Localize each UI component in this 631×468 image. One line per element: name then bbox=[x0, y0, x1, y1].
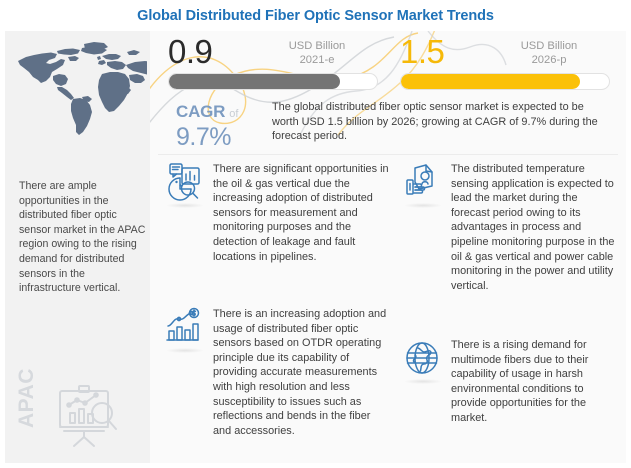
progress-bar-fill bbox=[401, 74, 580, 89]
stat-value-row: 0.9 USD Billion 2021-e bbox=[168, 37, 390, 75]
cagr-label: CAGR bbox=[176, 102, 225, 121]
stat-unit: USD Billion 2026-p bbox=[484, 39, 614, 67]
cagr-of-label: of bbox=[229, 108, 238, 120]
presentation-chart-magnifier-icon bbox=[52, 383, 124, 449]
icon-shadow bbox=[404, 203, 442, 208]
content-panel: 0.9 USD Billion 2021-e 1.5 USD Billion 2… bbox=[150, 31, 626, 463]
infographic-root: Global Distributed Fiber Optic Sensor Ma… bbox=[0, 0, 631, 468]
section-divider bbox=[158, 154, 618, 155]
insight-card-oil-gas: There are significant opportunities in t… bbox=[164, 162, 392, 264]
insight-card-distributed-temperature-sensing: The distributed temperature sensing appl… bbox=[402, 162, 620, 293]
insight-card-text: There is a rising demand for multimode f… bbox=[451, 338, 617, 426]
bar-chart-growth-icon bbox=[164, 307, 206, 349]
stat-estimate-2021: 0.9 USD Billion 2021-e bbox=[168, 37, 390, 99]
insight-card-otdr: There is an increasing adoption and usag… bbox=[164, 307, 392, 438]
world-map-icon bbox=[9, 37, 147, 143]
globe-icon bbox=[402, 338, 444, 380]
cagr-percent: 9.7% bbox=[176, 124, 270, 150]
progress-bar-track bbox=[168, 73, 378, 90]
stat-unit-line2: 2026-p bbox=[484, 53, 614, 67]
stat-unit-line2: 2021-e bbox=[252, 53, 382, 67]
hand-holding-documents-icon bbox=[402, 162, 444, 204]
insight-card-text: There are significant opportunities in t… bbox=[213, 162, 389, 264]
stat-unit: USD Billion 2021-e bbox=[252, 39, 382, 67]
cagr-description: The global distributed fiber optic senso… bbox=[272, 100, 612, 144]
insight-card-text: The distributed temperature sensing appl… bbox=[451, 162, 617, 293]
stat-projection-2026: 1.5 USD Billion 2026-p bbox=[400, 37, 622, 99]
stat-unit-line1: USD Billion bbox=[521, 40, 578, 52]
stat-unit-line1: USD Billion bbox=[289, 40, 346, 52]
sidebar-panel: There are ample opportunities in the dis… bbox=[5, 31, 150, 463]
icon-shadow bbox=[166, 348, 204, 353]
pie-bar-chart-magnifier-icon bbox=[164, 162, 206, 204]
apac-watermark-label: APAC bbox=[15, 368, 39, 428]
insight-card-text: There is an increasing adoption and usag… bbox=[213, 307, 389, 438]
icon-shadow bbox=[404, 379, 442, 384]
page-title-bar: Global Distributed Fiber Optic Sensor Ma… bbox=[0, 0, 631, 31]
progress-bar-fill bbox=[169, 74, 340, 89]
page-title: Global Distributed Fiber Optic Sensor Ma… bbox=[137, 8, 494, 24]
stat-value: 0.9 bbox=[168, 33, 212, 71]
cagr-label-row: CAGRof bbox=[176, 102, 270, 124]
stat-value: 1.5 bbox=[400, 33, 444, 71]
progress-bar-track bbox=[400, 73, 610, 90]
cagr-block: CAGRof 9.7% bbox=[176, 102, 270, 150]
insight-card-multimode-fibers: There is a rising demand for multimode f… bbox=[402, 338, 620, 426]
stat-value-row: 1.5 USD Billion 2026-p bbox=[400, 37, 622, 75]
sidebar-paragraph: There are ample opportunities in the dis… bbox=[19, 179, 147, 296]
icon-shadow bbox=[166, 203, 204, 208]
